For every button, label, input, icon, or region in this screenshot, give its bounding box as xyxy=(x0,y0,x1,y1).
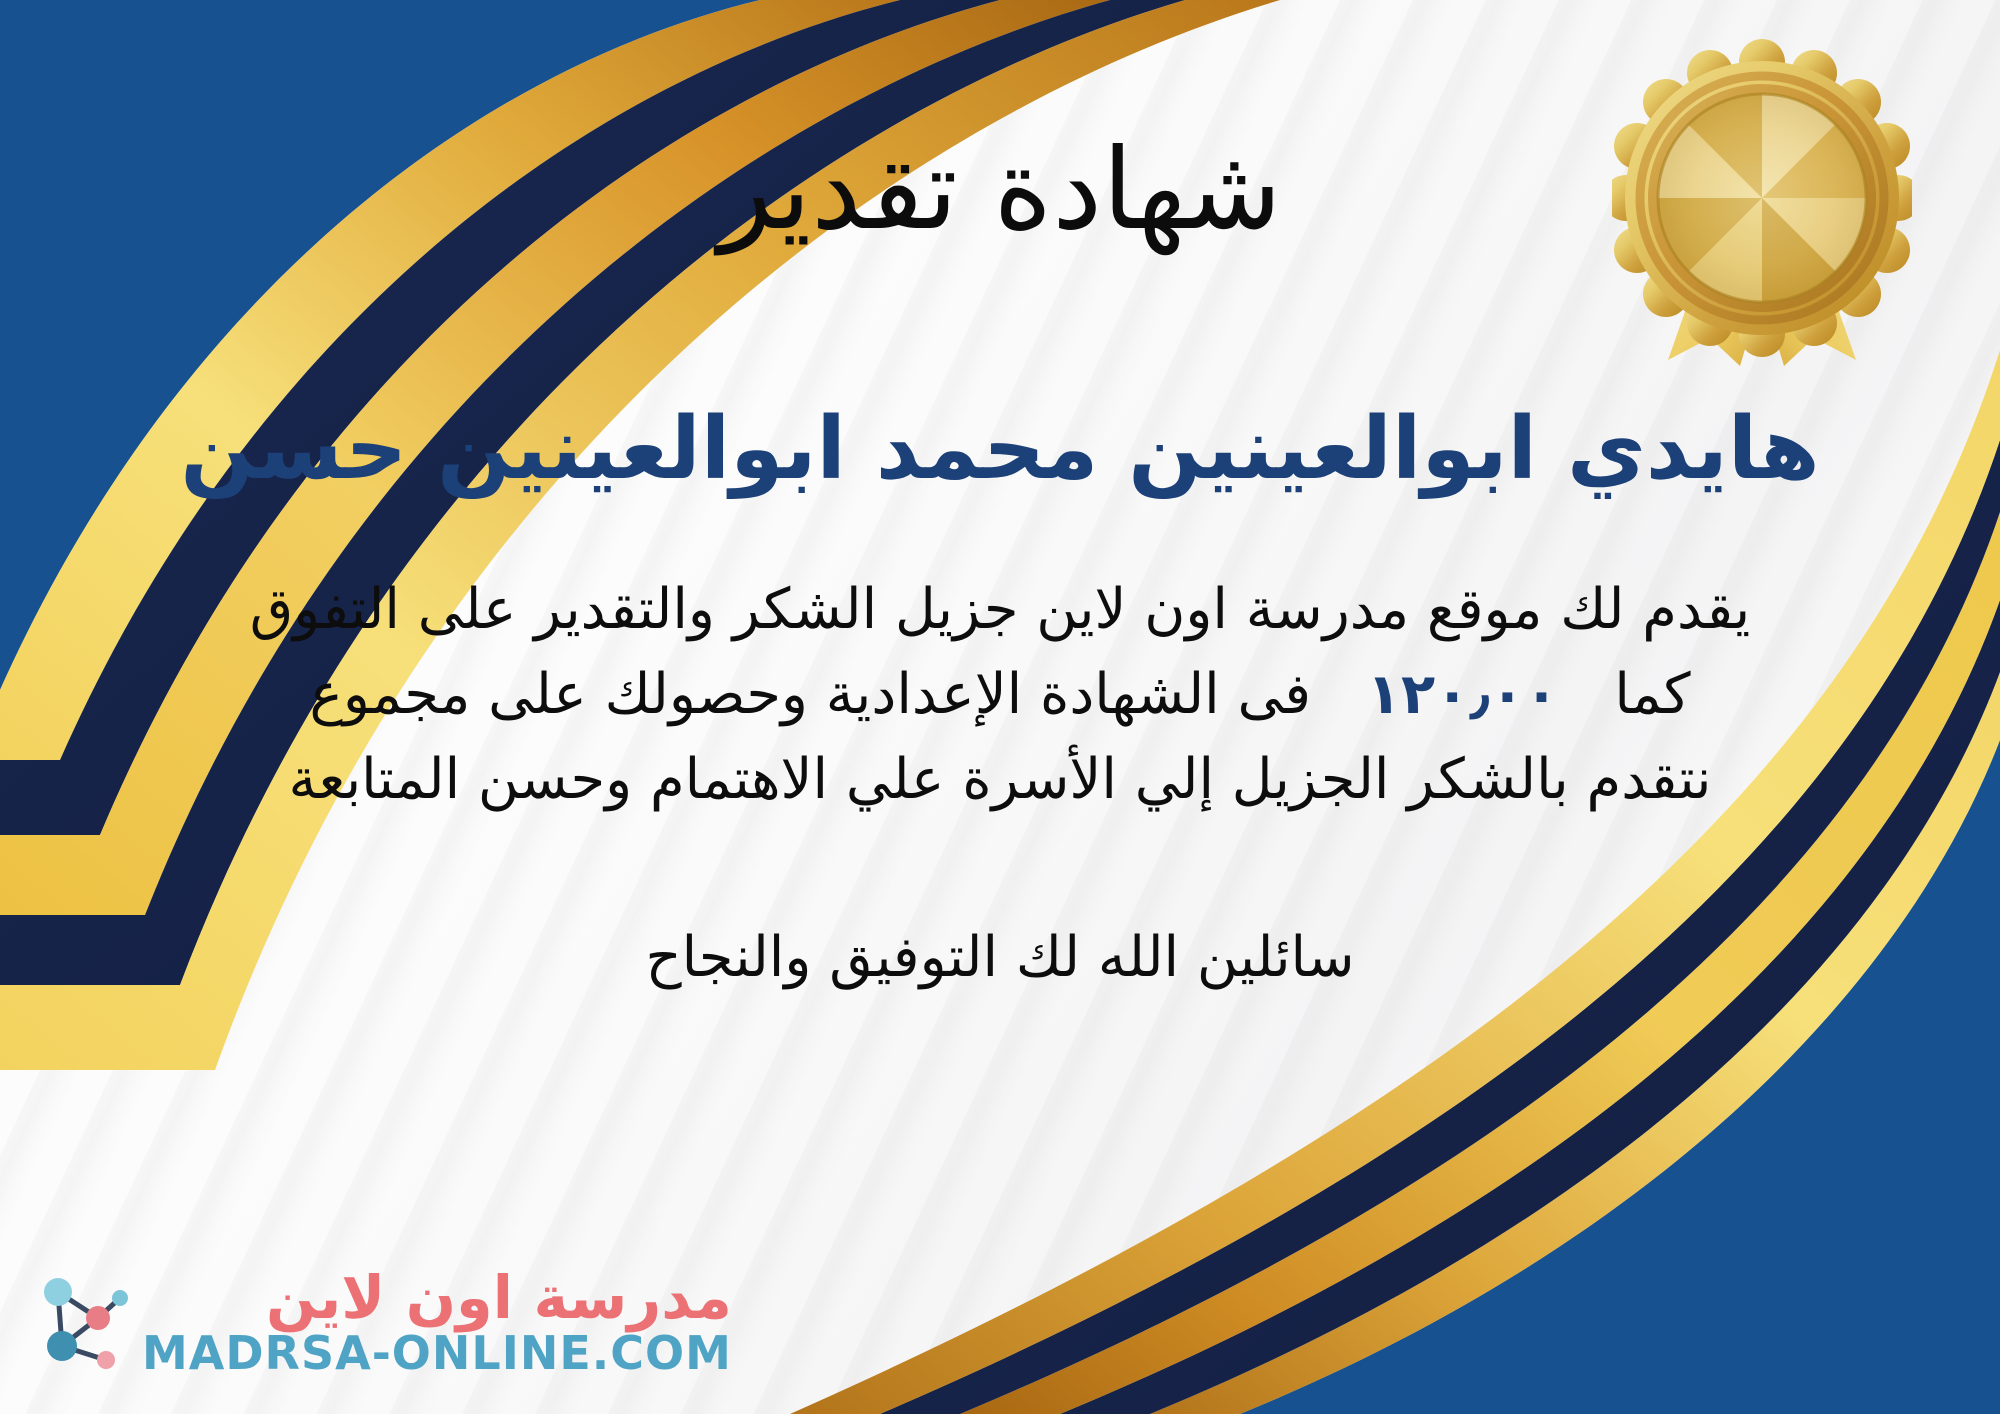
body-line-1: يقدم لك موقع مدرسة اون لاين جزيل الشكر و… xyxy=(70,567,1930,652)
certificate-content: شهادة تقدير هايدي ابوالعينين محمد ابوالع… xyxy=(0,0,2000,1414)
network-nodes-icon xyxy=(36,1272,132,1376)
closing-wish: سائلين الله لك التوفيق والنجاح xyxy=(0,919,2000,997)
certificate-body: يقدم لك موقع مدرسة اون لاين جزيل الشكر و… xyxy=(70,567,1930,822)
brand-name-arabic: مدرسة اون لاين xyxy=(266,1267,732,1328)
body-line-2: كما ١٢٠٫٠٠ فى الشهادة الإعدادية وحصولك ع… xyxy=(70,652,1930,737)
certificate-page: شهادة تقدير هايدي ابوالعينين محمد ابوالع… xyxy=(0,0,2000,1414)
body-line-2-prefix: كما xyxy=(1614,662,1690,727)
page-title: شهادة تقدير xyxy=(0,130,2000,251)
recipient-name: هايدي ابوالعينين محمد ابوالعينين حسن xyxy=(60,401,1940,497)
grade-total-value: ١٢٠٫٠٠ xyxy=(1329,662,1597,727)
body-line-3: نتقدم بالشكر الجزيل إلي الأسرة علي الاهت… xyxy=(70,737,1930,822)
brand-website: MADRSA-ONLINE.COM xyxy=(142,1328,732,1380)
body-line-2-suffix: فى الشهادة الإعدادية وحصولك على مجموع xyxy=(309,662,1311,727)
brand-text: مدرسة اون لاين MADRSA-ONLINE.COM xyxy=(142,1267,732,1380)
brand-logo[interactable]: مدرسة اون لاين MADRSA-ONLINE.COM xyxy=(36,1267,732,1380)
